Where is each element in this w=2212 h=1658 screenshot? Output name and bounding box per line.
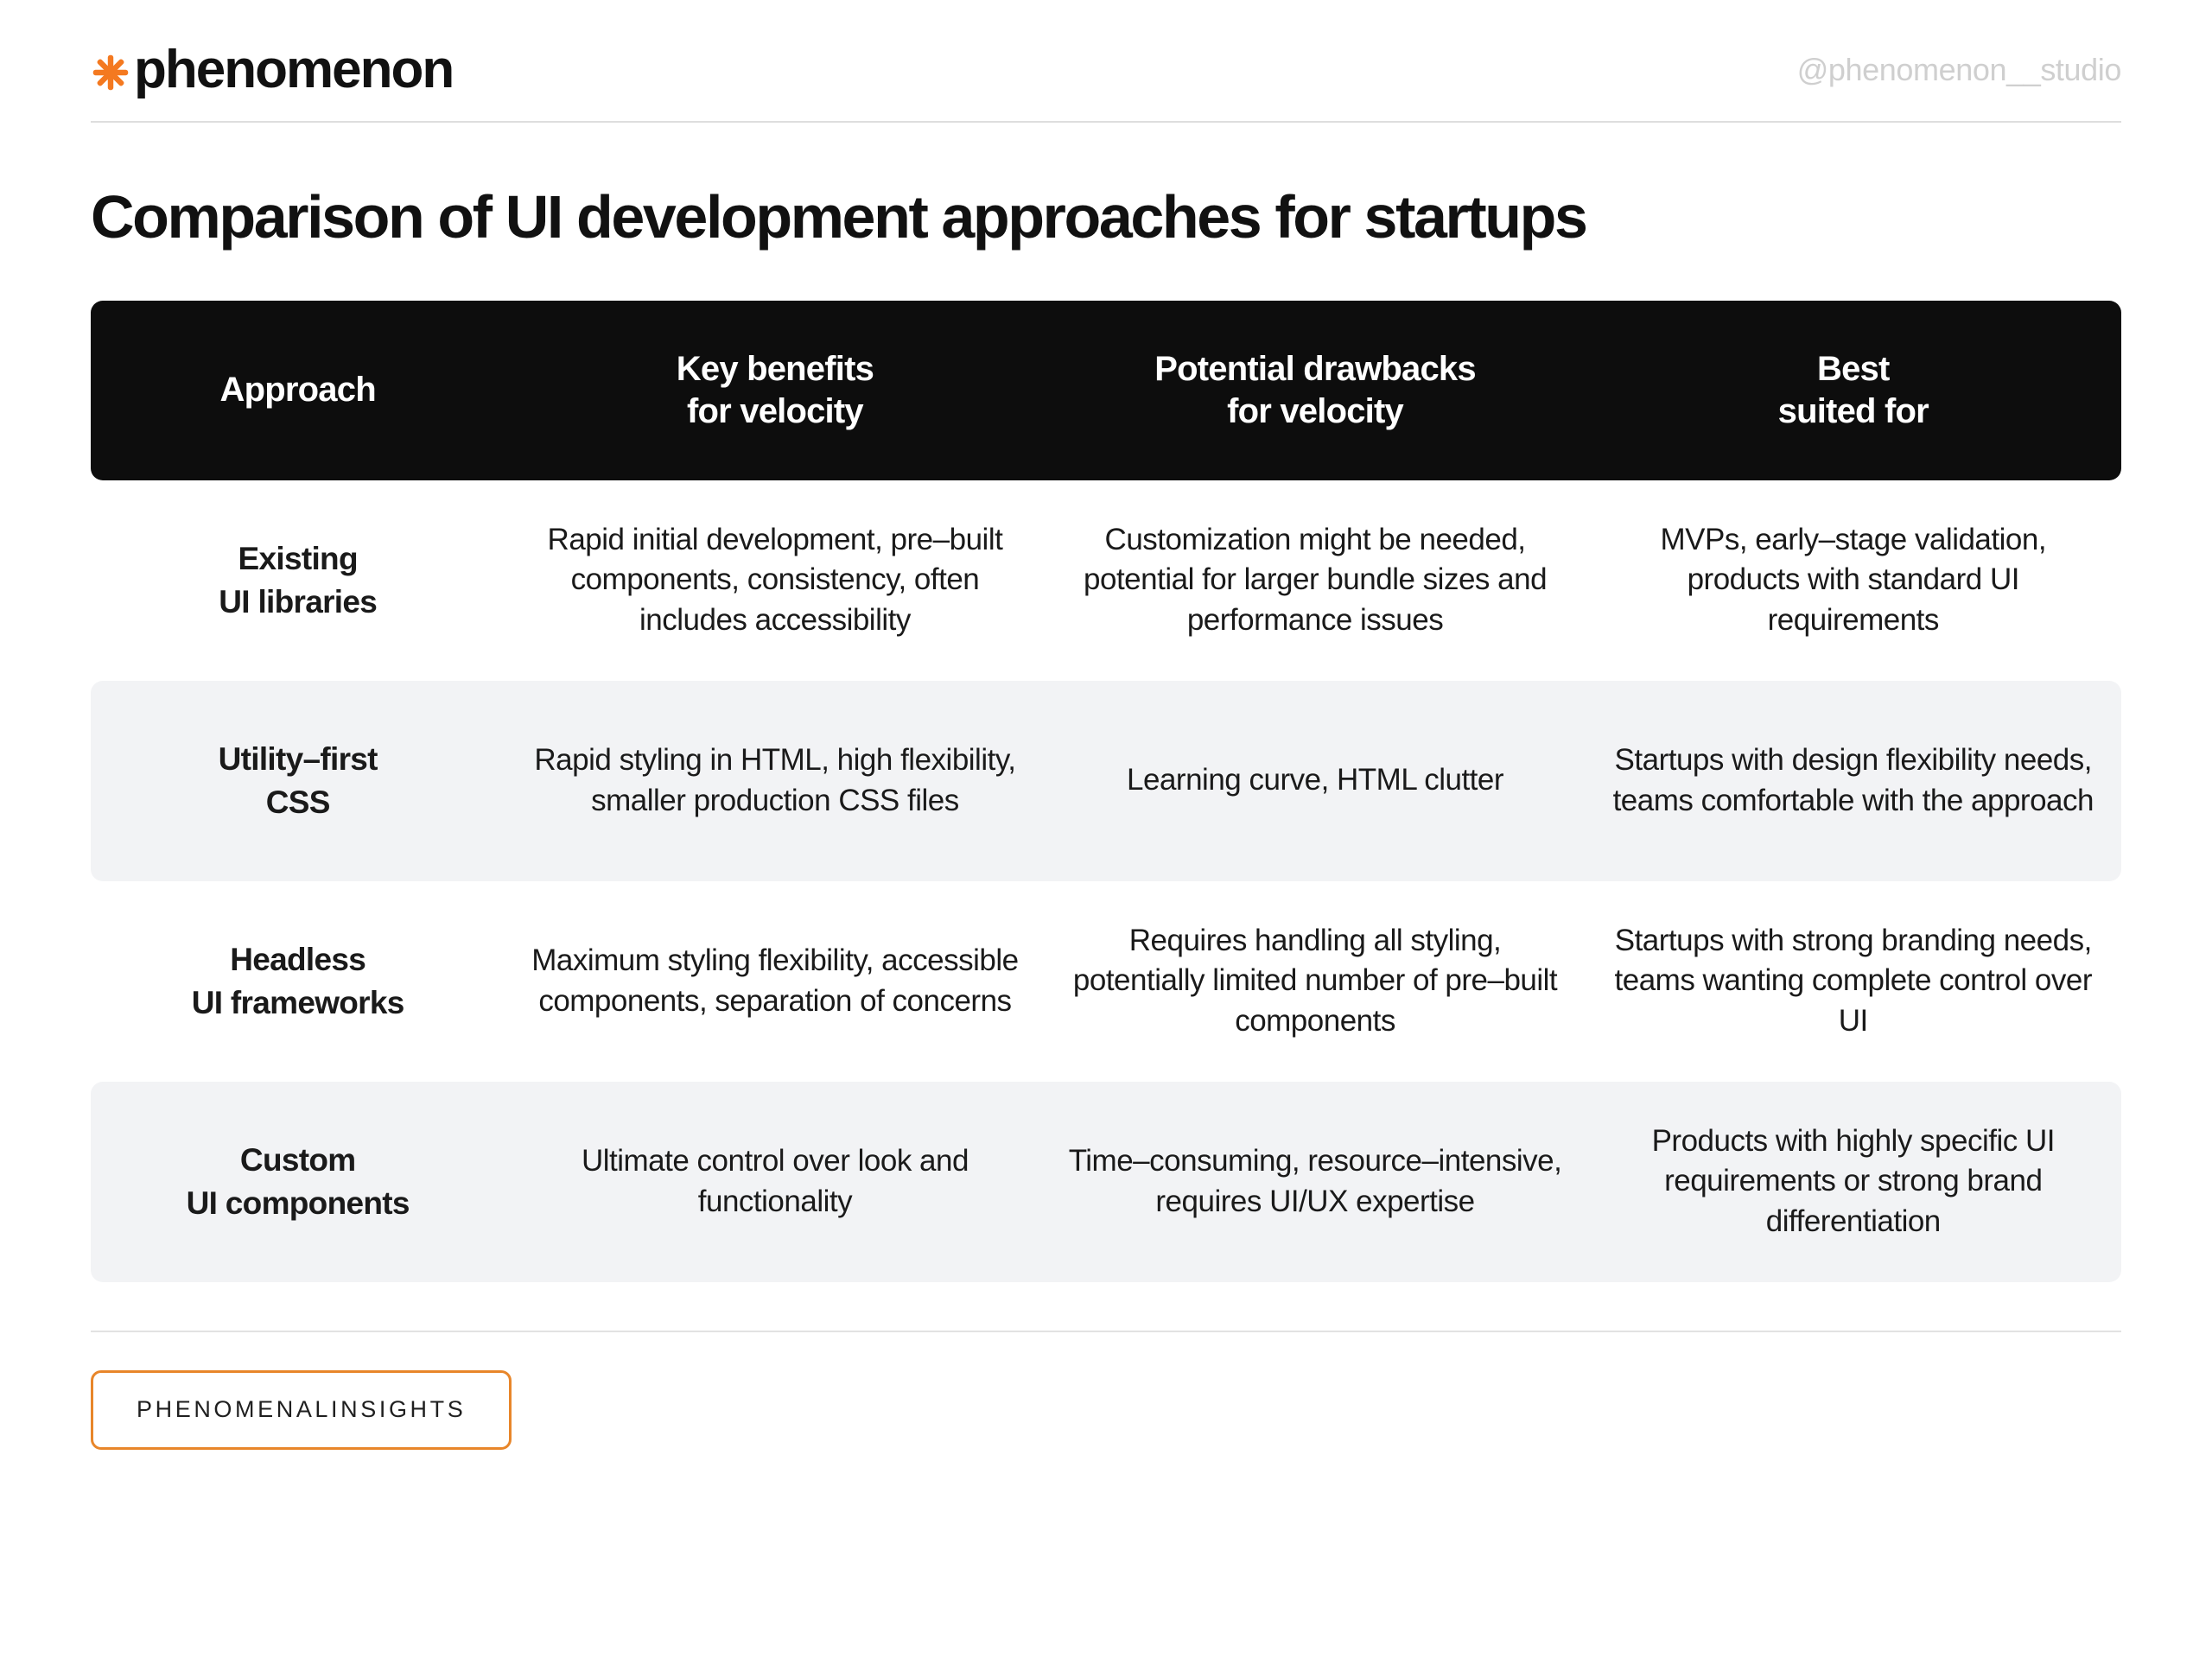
top-bar: phenomenon @phenomenon__studio: [91, 0, 2121, 121]
column-header-best-suited-for: Best suited for: [1586, 326, 2121, 455]
slide-root: phenomenon @phenomenon__studio Compariso…: [0, 0, 2212, 1658]
cell-potential-drawbacks: Requires handling all styling, potential…: [1045, 895, 1585, 1068]
social-handle: @phenomenon__studio: [1797, 52, 2121, 88]
column-header-line2: for velocity: [527, 391, 1022, 433]
approach-line1: Existing: [113, 537, 482, 580]
column-header-line1: Best: [1608, 348, 2099, 391]
approach-line2: CSS: [113, 781, 482, 823]
table-row: Headless UI frameworks Maximum styling f…: [91, 881, 2121, 1082]
cell-potential-drawbacks: Customization might be needed, potential…: [1045, 494, 1585, 667]
approach-line2: UI libraries: [113, 581, 482, 623]
cell-best-suited-for: Startups with design flexibility needs, …: [1586, 715, 2121, 847]
column-header-key-benefits: Key benefits for velocity: [505, 326, 1045, 455]
cell-key-benefits: Ultimate control over look and functiona…: [505, 1115, 1045, 1248]
approach-line2: UI frameworks: [113, 981, 482, 1024]
cell-potential-drawbacks: Learning curve, HTML clutter: [1045, 734, 1585, 827]
column-header-line1: Key benefits: [527, 348, 1022, 391]
cell-potential-drawbacks: Time–consuming, resource–intensive, requ…: [1045, 1115, 1585, 1248]
cell-best-suited-for: MVPs, early–stage validation, products w…: [1586, 494, 2121, 667]
table-header-row: Approach Key benefits for velocity Poten…: [91, 301, 2121, 480]
cell-key-benefits: Rapid styling in HTML, high flexibility,…: [505, 715, 1045, 847]
column-header-line1: Approach: [113, 369, 482, 411]
insights-badge[interactable]: PHENOMENALINSIGHTS: [91, 1370, 512, 1450]
column-header-line1: Potential drawbacks: [1067, 348, 1562, 391]
cell-approach: Headless UI frameworks: [91, 912, 505, 1049]
cell-approach: Utility–first CSS: [91, 712, 505, 848]
cell-best-suited-for: Products with highly specific UI require…: [1586, 1096, 2121, 1268]
comparison-table: Approach Key benefits for velocity Poten…: [91, 301, 2121, 1282]
table-row: Utility–first CSS Rapid styling in HTML,…: [91, 681, 2121, 881]
cell-best-suited-for: Startups with strong branding needs, tea…: [1586, 895, 2121, 1068]
cell-key-benefits: Maximum styling flexibility, accessible …: [505, 915, 1045, 1047]
brand-logo[interactable]: phenomenon: [91, 43, 453, 97]
cell-approach: Existing UI libraries: [91, 511, 505, 648]
approach-line1: Custom: [113, 1139, 482, 1181]
page-title: Comparison of UI development approaches …: [91, 185, 2121, 251]
footer-divider: [91, 1331, 2121, 1332]
approach-line1: Headless: [113, 938, 482, 981]
table-row: Custom UI components Ultimate control ov…: [91, 1082, 2121, 1282]
column-header-line2: for velocity: [1067, 391, 1562, 433]
column-header-line2: suited for: [1608, 391, 2099, 433]
brand-name: phenomenon: [134, 43, 453, 97]
asterisk-star-icon: [91, 53, 130, 92]
footer: PHENOMENALINSIGHTS: [91, 1331, 2121, 1450]
cell-key-benefits: Rapid initial development, pre–built com…: [505, 494, 1045, 667]
column-header-approach: Approach: [91, 346, 505, 434]
column-header-potential-drawbacks: Potential drawbacks for velocity: [1045, 326, 1585, 455]
approach-line2: UI components: [113, 1182, 482, 1224]
approach-line1: Utility–first: [113, 738, 482, 780]
table-row: Existing UI libraries Rapid initial deve…: [91, 480, 2121, 681]
cell-approach: Custom UI components: [91, 1113, 505, 1249]
header-divider: [91, 121, 2121, 123]
